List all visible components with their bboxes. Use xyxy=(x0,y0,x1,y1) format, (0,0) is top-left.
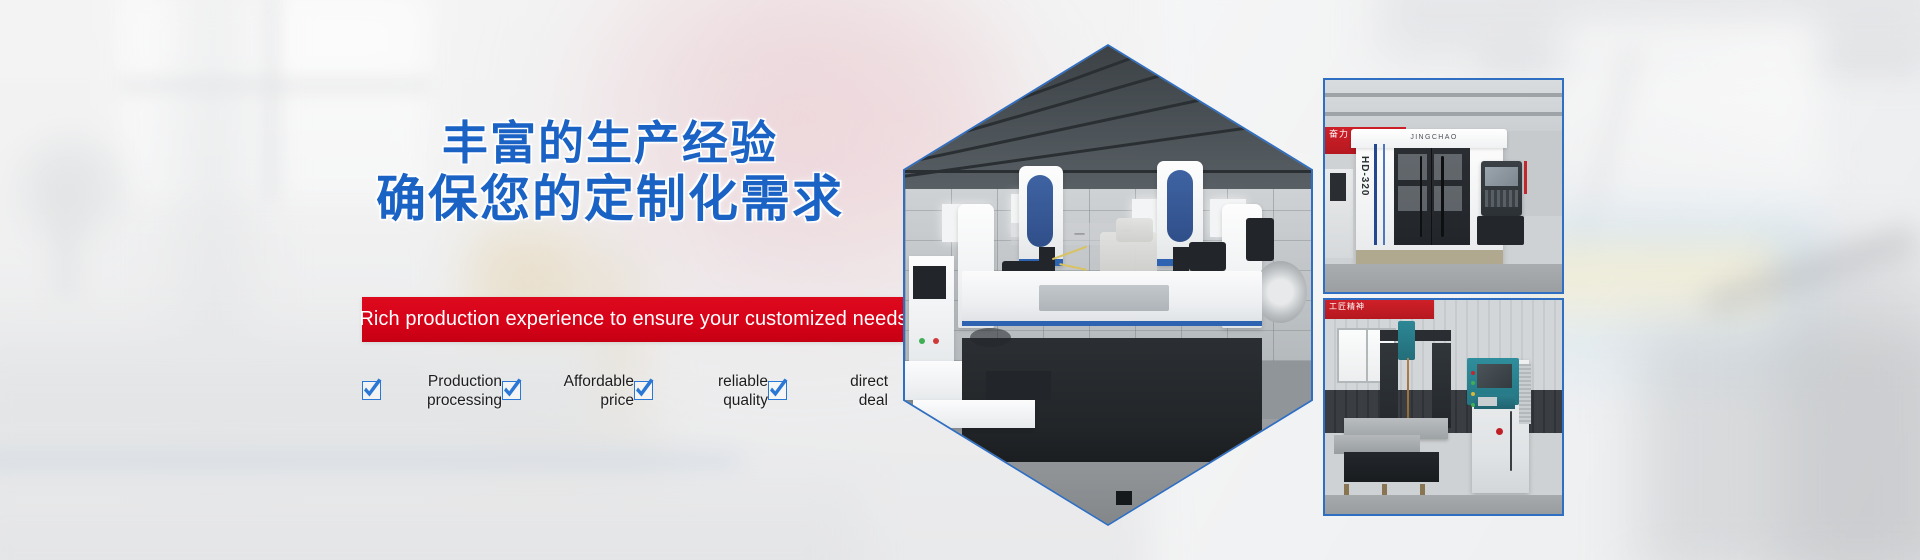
feature-list: Production processing Affordable price xyxy=(362,372,910,410)
photo-wall-banner-text: 工匠精神 xyxy=(1325,300,1434,314)
checkbox-checked-icon xyxy=(362,381,381,400)
subtitle-text: Rich production experience to ensure you… xyxy=(359,308,907,331)
photo-wall-banner: 工匠精神 xyxy=(1325,300,1434,319)
feature-item-direct-deal: direct deal xyxy=(768,372,888,410)
hexagon-photo: 定 一 切 xyxy=(903,44,1313,526)
promo-banner: 丰富的生产经验 确保您的定制化需求 Rich production experi… xyxy=(0,0,1920,560)
headline-line-2: 确保您的定制化需求 xyxy=(300,170,920,228)
feature-label-line2: quality xyxy=(664,391,768,410)
subtitle-red-bar: Rich production experience to ensure you… xyxy=(362,297,905,342)
photo-edm-drilling-machine: 工匠精神 xyxy=(1323,298,1564,516)
checkbox-checked-icon xyxy=(502,381,521,400)
feature-label-line1: direct xyxy=(798,372,888,391)
feature-label: Affordable price xyxy=(532,372,634,410)
feature-label-line2: price xyxy=(532,391,634,410)
hexagon-sign-char-2: 一 xyxy=(1074,226,1085,242)
feature-label-line1: Production xyxy=(392,372,502,391)
checkbox-checked-icon xyxy=(634,381,653,400)
feature-label-line1: Affordable xyxy=(532,372,634,391)
feature-label: reliable quality xyxy=(664,372,768,410)
hexagon-photo-image: 定 一 切 xyxy=(905,46,1311,524)
feature-label: direct deal xyxy=(798,372,888,410)
headline-line-1: 丰富的生产经验 xyxy=(300,118,920,170)
feature-label-line1: reliable xyxy=(664,372,768,391)
photo-model-label: HD-320 xyxy=(1359,156,1370,196)
feature-item-reliable-quality: reliable quality xyxy=(634,372,768,410)
photo-hd320-machining-center: 奋力 JINGCHAO HD-320 xyxy=(1323,78,1564,294)
feature-label-line2: processing xyxy=(392,391,502,410)
photo-brand-label: JINGCHAO xyxy=(1410,134,1457,141)
feature-label: Production processing xyxy=(392,372,502,410)
feature-item-production-processing: Production processing xyxy=(362,372,502,410)
feature-label-line2: deal xyxy=(798,391,888,410)
feature-item-affordable-price: Affordable price xyxy=(502,372,634,410)
headline-block: 丰富的生产经验 确保您的定制化需求 xyxy=(300,118,920,228)
checkbox-checked-icon xyxy=(768,381,787,400)
